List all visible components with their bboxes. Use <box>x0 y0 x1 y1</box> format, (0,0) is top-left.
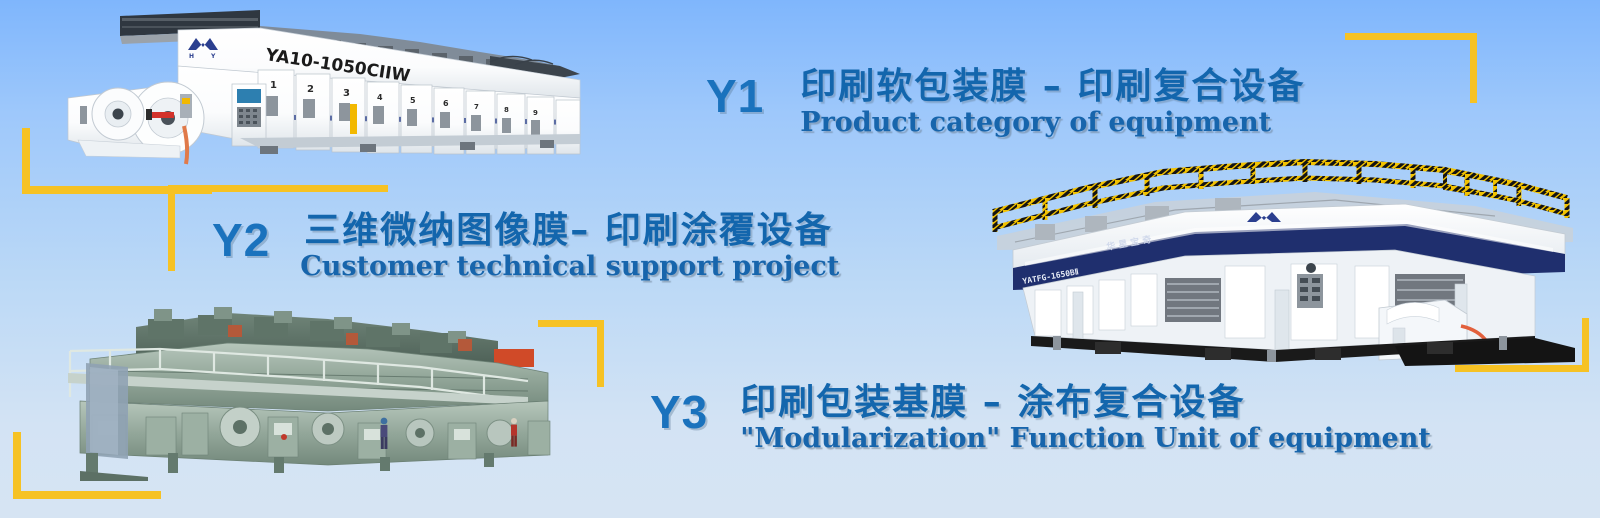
svg-text:5: 5 <box>410 96 416 105</box>
entry-y2-code: Y2 <box>212 217 270 263</box>
svg-text:Y: Y <box>210 53 216 60</box>
entry-y3-title-cn: 印刷包装基膜 – 涂布复合设备 <box>740 384 1431 423</box>
svg-text:6: 6 <box>443 99 449 108</box>
entry-y1-code: Y1 <box>706 73 764 119</box>
entry-y1: Y1 印刷软包装膜 – 印刷复合设备 Product category of e… <box>706 68 1305 137</box>
entry-y3-code: Y3 <box>650 389 708 435</box>
machine-gravure-printing-press: H Y YA10-1050CIIW <box>60 8 606 176</box>
svg-text:2: 2 <box>307 84 314 95</box>
svg-text:8: 8 <box>504 106 509 114</box>
entry-y3: Y3 印刷包装基膜 – 涂布复合设备 "Modularization" Func… <box>650 384 1431 453</box>
svg-text:7: 7 <box>474 103 479 111</box>
entry-y1-title-en: Product category of equipment <box>800 109 1305 137</box>
svg-text:3: 3 <box>343 88 350 99</box>
entry-y3-title-en: "Modularization" Function Unit of equipm… <box>740 425 1431 453</box>
machine-laminating-coating: 华 星 宝 奇 YATFG-1650BⅡ <box>975 150 1583 372</box>
bracket-top-right <box>1345 33 1477 103</box>
svg-text:H: H <box>189 53 194 60</box>
svg-text:9: 9 <box>533 109 538 117</box>
machine-paper-coating-line <box>28 305 578 481</box>
entry-y2-title-en: Customer technical support project <box>300 253 839 281</box>
entry-y2: Y2 三维微纳图像膜– 印刷涂覆设备 Customer technical su… <box>212 212 839 281</box>
svg-text:1: 1 <box>270 80 277 91</box>
svg-text:4: 4 <box>377 93 383 102</box>
entry-y2-title-cn: 三维微纳图像膜– 印刷涂覆设备 <box>304 212 839 251</box>
banner-stage: H Y YA10-1050CIIW <box>0 0 1600 518</box>
entry-y1-title-cn: 印刷软包装膜 – 印刷复合设备 <box>800 68 1305 107</box>
